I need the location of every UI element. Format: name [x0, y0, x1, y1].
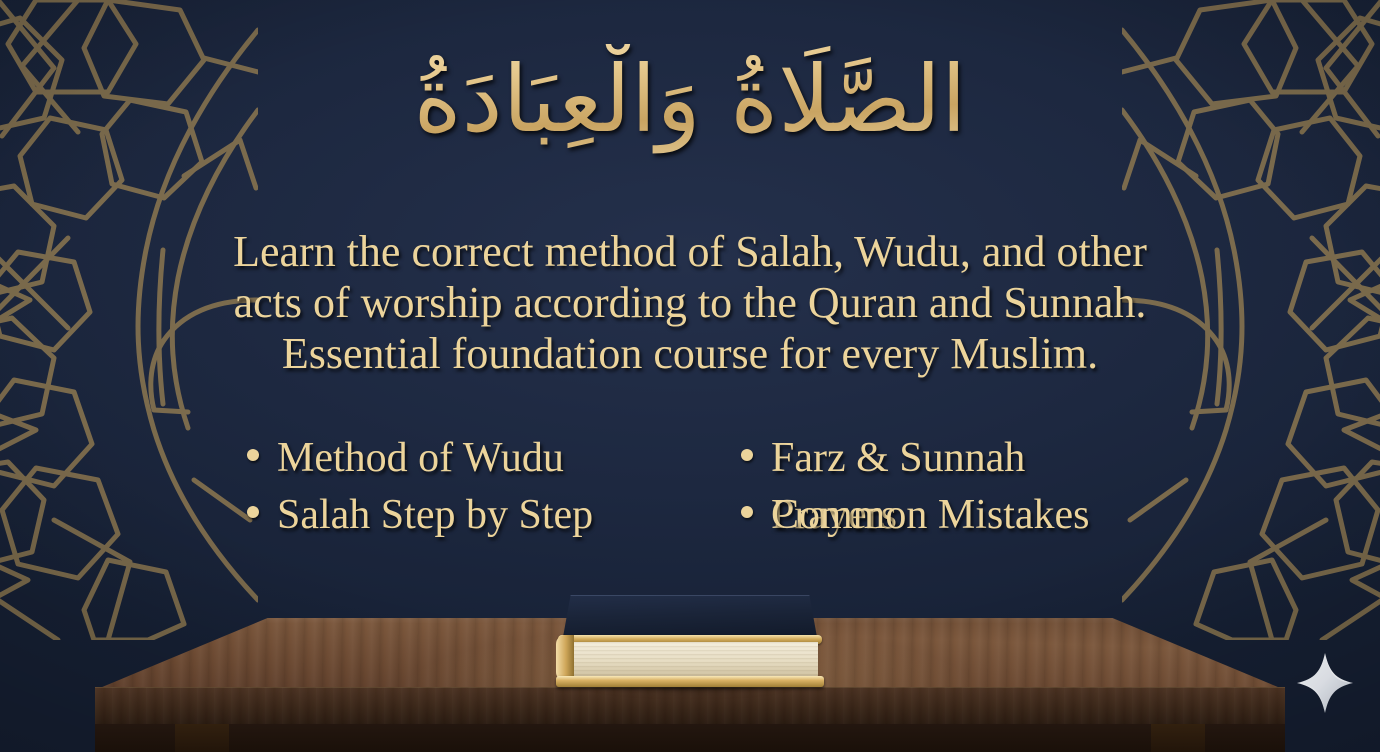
bullet-dot-icon [741, 506, 753, 518]
subtitle-line-3: Essential foundation course for every Mu… [210, 328, 1170, 379]
bullet-label: Method of Wudu [277, 430, 564, 487]
bullet-item-salah-step-by-step: Salah Step by Step [225, 487, 675, 544]
book-gilt-bottom-edge [556, 676, 824, 687]
book-cover [563, 595, 817, 637]
subtitle-line-1: Learn the correct method of Salah, Wudu,… [210, 226, 1170, 277]
slide-canvas: الصَّلَاةُ وَالْعِبَادَةُ Learn the corr… [0, 0, 1380, 752]
bullet-dot-icon [247, 449, 259, 461]
subtitle-line-2: acts of worship according to the Quran a… [210, 277, 1170, 328]
bullet-item-farz-and-sunnah-prayers: Farz & Sunnah Prayers [705, 430, 1155, 487]
table-leg-right [1151, 722, 1205, 752]
bullet-dot-icon [247, 506, 259, 518]
subtitle-paragraph: Learn the correct method of Salah, Wudu,… [210, 226, 1170, 379]
book-spine [556, 635, 574, 681]
arabic-title: الصَّلَاةُ وَالْعِبَادَةُ [0, 44, 1380, 156]
sparkle-icon [1296, 652, 1354, 714]
table-base [95, 722, 1285, 752]
bullet-label: Common Mistakes [771, 487, 1090, 544]
topic-bullet-list: Method of Wudu Farz & Sunnah Prayers Sal… [225, 430, 1155, 544]
bullet-item-method-of-wudu: Method of Wudu [225, 430, 675, 487]
bullet-dot-icon [741, 449, 753, 461]
book-object [556, 595, 824, 687]
bullet-item-common-mistakes: Common Mistakes [705, 487, 1155, 544]
book-page-block [562, 642, 818, 678]
wooden-table [0, 592, 1380, 752]
table-leg-left [175, 722, 229, 752]
bullet-label: Salah Step by Step [277, 487, 593, 544]
